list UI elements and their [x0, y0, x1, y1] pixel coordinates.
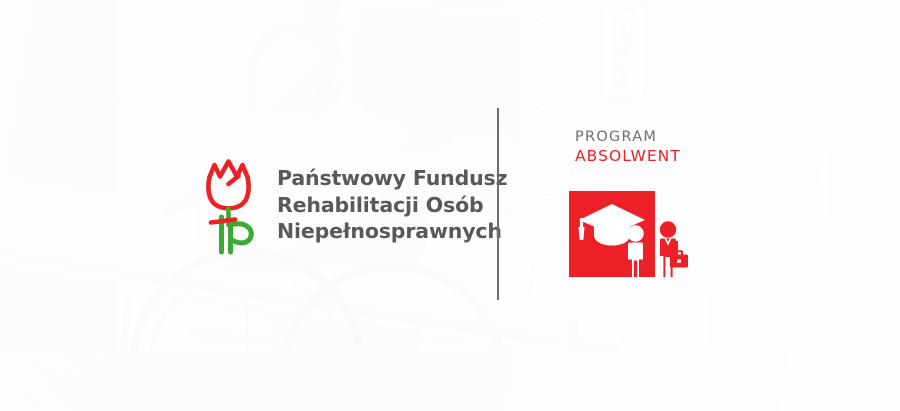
program-name: ABSOLWENT: [575, 147, 681, 167]
vertical-divider: [497, 108, 499, 300]
businessman-with-briefcase-icon: [660, 221, 688, 277]
pfron-tulip-logo-icon: [199, 155, 261, 255]
program-label: PROGRAM: [575, 128, 681, 147]
pfron-program-absolwent-banner: TESSCO: [0, 0, 900, 411]
pfron-logo-line-3: Niepełnosprawnych: [277, 218, 507, 245]
pfron-logo-line-2: Rehabilitacji Osób: [277, 192, 507, 219]
program-absolwent-icon: [569, 191, 689, 279]
pfron-logo-line-1: Państwowy Fundusz: [277, 165, 507, 192]
graduation-cap-graduate-and-professional-icon: [569, 191, 689, 279]
pfron-logo-wordmark: Państwowy Fundusz Rehabilitacji Osób Nie…: [277, 165, 507, 245]
pfron-logo: Państwowy Fundusz Rehabilitacji Osób Nie…: [199, 155, 507, 255]
banner-content: Państwowy Fundusz Rehabilitacji Osób Nie…: [0, 0, 900, 411]
program-title: PROGRAM ABSOLWENT: [575, 128, 681, 166]
